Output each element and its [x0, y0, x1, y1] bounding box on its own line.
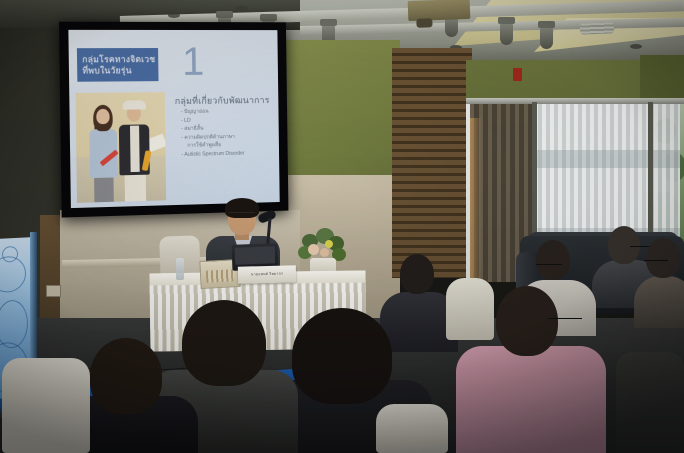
curtain-shadow	[534, 150, 680, 168]
slide-title-line-2: ที่พบในวัยรุ่น	[82, 65, 158, 77]
audience-chair	[376, 404, 448, 453]
audience-chair	[2, 358, 90, 453]
seminar-room-photo: กลุ่มโรคทางจิตเวช ที่พบในวัยรุ่น 1	[0, 0, 684, 453]
air-vent-icon	[580, 22, 614, 34]
slide-photo	[75, 92, 166, 203]
projection-screen: กลุ่มโรคทางจิตเวช ที่พบในวัยรุ่น 1	[59, 22, 288, 218]
wood-slat-panel	[392, 48, 472, 278]
track-light-icon	[540, 26, 553, 49]
audience-member	[638, 238, 684, 314]
water-bottle	[176, 258, 184, 280]
slide-title-line-1: กลุ่มโรคทางจิตเวช	[82, 54, 158, 65]
flower-arrangement	[296, 228, 348, 276]
audience-pink-shirt	[470, 290, 588, 453]
slide-title-box: กลุ่มโรคทางจิตเวช ที่พบในวัยรุ่น	[77, 48, 159, 82]
slide-bullet-list: - ปัญญาอ่อน - LD - สมาธิสั้น - ความผิดปก…	[181, 107, 279, 160]
screen-surface: กลุ่มโรคทางจิตเวช ที่พบในวัยรุ่น 1	[68, 30, 279, 208]
presentation-slide: กลุ่มโรคทางจิตเวช ที่พบในวัยรุ่น 1	[68, 30, 279, 208]
downlight-icon	[236, 6, 248, 11]
nameplate-text: นายแพทย์ วิทยากร	[238, 270, 296, 278]
fire-alarm-icon	[513, 68, 522, 81]
speaker-glasses-icon	[229, 212, 255, 218]
drape-edge-glow	[470, 118, 482, 282]
downlight-icon	[630, 44, 642, 49]
audience-chair	[616, 352, 684, 453]
downlight-icon	[168, 13, 180, 18]
slide-bullet: - Autistic Spectrum Disorder	[181, 149, 279, 160]
wall-socket-icon[interactable]	[46, 285, 61, 297]
slide-heading: กลุ่มที่เกี่ยวกับพัฒนาการ	[175, 93, 270, 108]
slide-section-number: 1	[182, 42, 205, 82]
track-light-icon	[500, 22, 513, 45]
ceiling-projector	[408, 0, 471, 21]
nameplate: นายแพทย์ วิทยากร	[238, 265, 296, 284]
